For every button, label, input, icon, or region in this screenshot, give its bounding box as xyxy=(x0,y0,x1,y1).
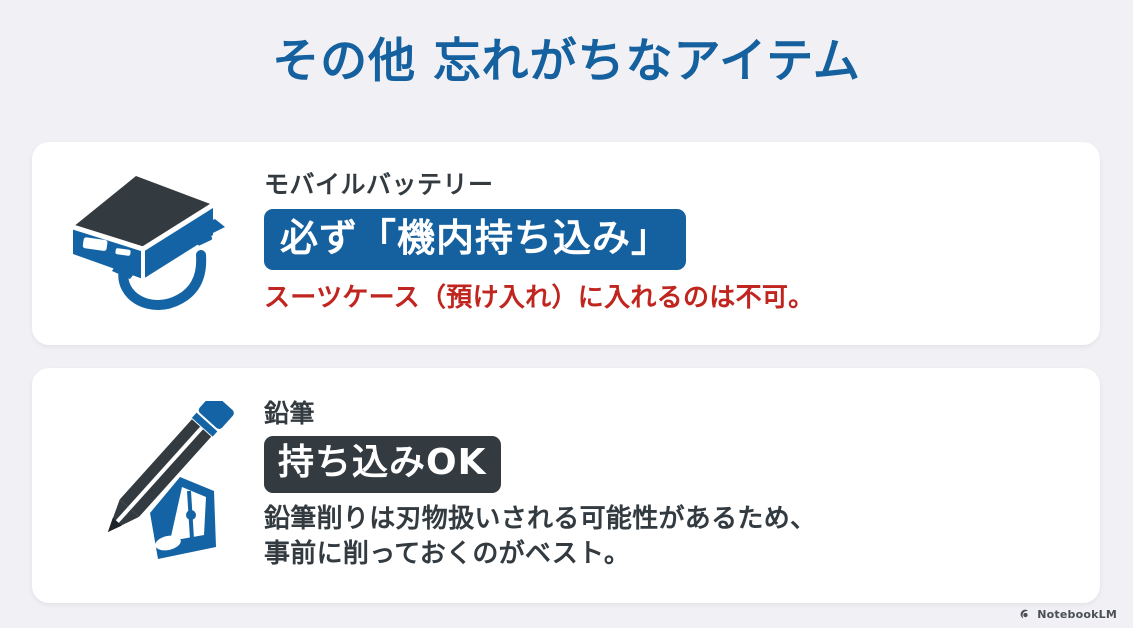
card-icon-slot xyxy=(32,368,264,603)
card-list: モバイルバッテリー 必ず「機内持ち込み」 スーツケース（預け入れ）に入れるのは不… xyxy=(32,142,1100,603)
page-title: その他 忘れがちなアイテム xyxy=(0,36,1133,88)
card-pencil: 鉛筆 持ち込みOK 鉛筆削りは刃物扱いされる可能性があるため、 事前に削っておく… xyxy=(32,368,1100,603)
warning-note: スーツケース（預け入れ）に入れるのは不可。 xyxy=(264,281,1074,316)
card-content: モバイルバッテリー 必ず「機内持ち込み」 スーツケース（預け入れ）に入れるのは不… xyxy=(264,170,1100,316)
card-icon-slot xyxy=(32,142,264,345)
info-note: 鉛筆削りは刃物扱いされる可能性があるため、 事前に削っておくのがベスト。 xyxy=(264,502,1074,572)
status-badge: 持ち込みOK xyxy=(264,436,501,493)
status-badge: 必ず「機内持ち込み」 xyxy=(264,209,686,270)
card-mobile-battery: モバイルバッテリー 必ず「機内持ち込み」 スーツケース（預け入れ）に入れるのは不… xyxy=(32,142,1100,345)
watermark: NotebookLM xyxy=(1019,608,1117,621)
watermark-label: NotebookLM xyxy=(1037,608,1117,621)
pencil-sharpener-icon xyxy=(58,401,238,571)
power-bank-icon xyxy=(60,169,236,319)
info-note-line-1: 鉛筆削りは刃物扱いされる可能性があるため、 xyxy=(264,502,1074,537)
card-content: 鉛筆 持ち込みOK 鉛筆削りは刃物扱いされる可能性があるため、 事前に削っておく… xyxy=(264,399,1100,572)
info-note-line-2: 事前に削っておくのがベスト。 xyxy=(264,537,1074,572)
notebooklm-logo-icon xyxy=(1019,608,1032,621)
item-label: モバイルバッテリー xyxy=(264,170,1074,200)
item-label: 鉛筆 xyxy=(264,399,1074,429)
